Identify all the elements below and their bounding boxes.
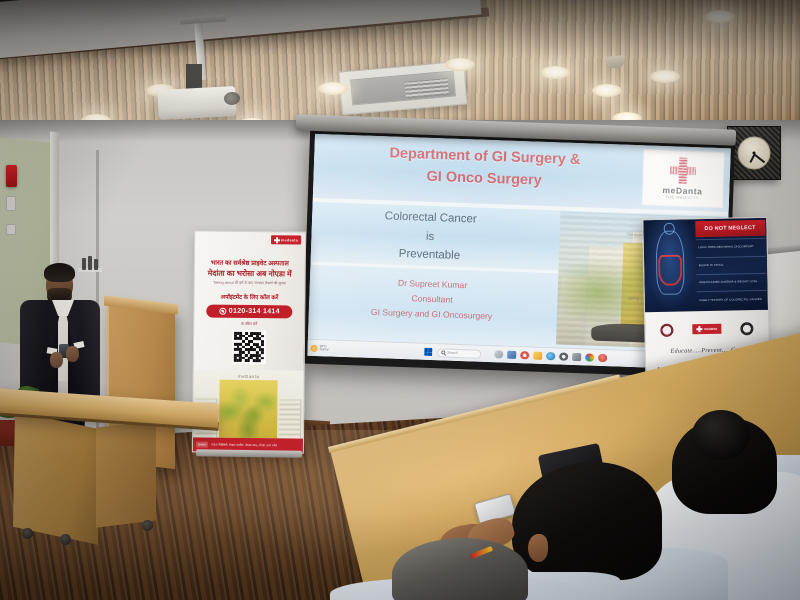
taskbar-app-icons	[494, 350, 607, 362]
settings-icon[interactable]	[559, 352, 568, 361]
desk-side-panel	[96, 420, 156, 527]
slide-presenter-block: Dr Supreet Kumar Consultant GI Surgery a…	[321, 273, 543, 327]
symptom-row: BLOOD IN STOOL	[696, 255, 766, 273]
symptom-text: UNEXPLAINED ANAEMIA & WEIGHT LOSS	[696, 280, 757, 284]
banner-right-medanta-text: medanta	[704, 327, 717, 331]
banner-right-header: DO NOT NEGLECT LONG TERM ABDOMINAL DISCO…	[643, 218, 768, 312]
cross-icon	[697, 326, 703, 332]
banner-right-symptom-list: DO NOT NEGLECT LONG TERM ABDOMINAL DISCO…	[695, 218, 768, 311]
phone-handset	[221, 310, 224, 313]
chrome-icon[interactable]	[585, 353, 594, 362]
windows-start-icon[interactable]	[424, 348, 432, 356]
qr-code	[232, 330, 266, 364]
folder-icon[interactable]	[533, 351, 542, 360]
file-explorer-icon[interactable]	[494, 350, 503, 359]
wall-switch-plate[interactable]	[6, 224, 16, 235]
weather-text: 33°C Sunny	[319, 345, 328, 352]
audience-member-center-ear	[528, 534, 548, 562]
slide-subject: Colorectal Cancer is Preventable	[331, 206, 528, 269]
fire-alarm-icon[interactable]	[6, 165, 17, 187]
bottle-icon	[94, 259, 98, 270]
banner-left-address: मेदांता मेडिसिटी, सेक्टर-चालीस, नोएडा-20…	[211, 443, 277, 448]
bottle-icon	[88, 256, 92, 270]
desk-caster	[60, 534, 71, 545]
building-green-facade	[219, 379, 278, 438]
search-placeholder: Search	[447, 351, 458, 355]
bottle-icon	[82, 258, 86, 270]
banner-left-hindi-line-2: मेदांता का भरोसा अब नोएडा में	[195, 268, 305, 279]
symptom-row: FAMILY HISTORY OF COLORECTAL CANCER	[696, 290, 766, 308]
symptom-row: UNEXPLAINED ANAEMIA & WEIGHT LOSS	[696, 273, 766, 291]
symptom-text: BLOOD IN STOOL	[696, 263, 724, 267]
banner-right-headline: DO NOT NEGLECT	[695, 220, 765, 238]
building-wing	[279, 399, 301, 439]
search-icon	[441, 351, 445, 355]
banner-right-logo-row: medanta	[645, 315, 768, 343]
wall-switch-plate[interactable]	[6, 196, 16, 211]
accreditation-badge: NABH	[196, 441, 208, 447]
teams-icon[interactable]	[546, 352, 555, 361]
building-opd-sign: OPD	[628, 296, 639, 301]
cross-bar-vertical	[698, 326, 700, 332]
medanta-logo-icon: medanta	[692, 324, 721, 335]
clock-minute-hand	[754, 153, 765, 162]
medanta-logo-icon: medanta	[271, 235, 301, 244]
presenter-hand	[50, 352, 63, 368]
edge-browser-icon[interactable]	[507, 351, 516, 360]
symptom-text: LONG TERM ABDOMINAL DISCOMFORT	[695, 245, 754, 249]
cross-bar-vertical	[679, 158, 688, 184]
presenter-hand	[66, 346, 79, 362]
taskbar-center-group: Search	[424, 347, 607, 362]
hair-bun	[692, 410, 750, 460]
banner-left-phone-number: 0120-314 1414	[229, 308, 280, 316]
banner-right-headline-text: DO NOT NEGLECT	[704, 225, 755, 232]
phone-icon	[219, 308, 226, 315]
building-logo-text: meDanta	[194, 373, 304, 379]
clock-center-pin	[753, 152, 756, 155]
medanta-cross-icon	[670, 157, 697, 184]
logo-tagline: THE MEDICITY	[665, 195, 699, 200]
media-player-icon[interactable]	[598, 354, 607, 363]
clock-face	[738, 137, 771, 170]
colon-illustration-icon	[658, 254, 682, 286]
banner-left-phone-pill: 0120-314 1414	[206, 305, 292, 319]
symptom-row: LONG TERM ABDOMINAL DISCOMFORT	[695, 238, 765, 256]
taskbar-search-input[interactable]: Search	[437, 348, 481, 359]
desk-side-panel	[13, 411, 100, 545]
presenter-hair	[44, 263, 75, 282]
banner-left-stand	[196, 449, 302, 457]
banner-left-call-prompt: अपॉइंटमेंट के लिए कॉल करें	[194, 292, 304, 301]
calculator-icon[interactable]	[572, 353, 581, 362]
weather-description: Sunny	[319, 348, 328, 352]
weather-widget[interactable]: 33°C Sunny	[310, 344, 328, 352]
desk-caster	[142, 520, 153, 531]
slide-logo: meDanta THE MEDICITY	[641, 150, 724, 208]
banner-left-logo-text: medanta	[281, 238, 298, 242]
office-icon[interactable]	[520, 351, 529, 360]
desk-caster	[22, 528, 33, 539]
building-core	[219, 379, 278, 438]
sun-icon	[310, 344, 317, 351]
symptom-text: FAMILY HISTORY OF COLORECTAL CANCER	[696, 297, 761, 301]
society-seal-icon	[740, 322, 753, 335]
association-seal-icon	[661, 323, 674, 336]
human-body-anatomy-icon	[643, 219, 696, 311]
banner-left-qr-caption: या स्कैन करें	[194, 321, 304, 327]
cross-bar-vertical	[276, 237, 278, 243]
banner-left-hindi-line-3: Taking about की इसे के बाद जानकर लेबलों …	[195, 280, 305, 286]
cross-icon	[274, 237, 280, 243]
banner-left-hindi-line-1: भारत का सर्वश्रेष्ठ प्राइवेट अस्पताल	[195, 257, 305, 267]
presentation-photo-scene: Department of GI Surgery & GI Onco Surge…	[0, 0, 800, 600]
